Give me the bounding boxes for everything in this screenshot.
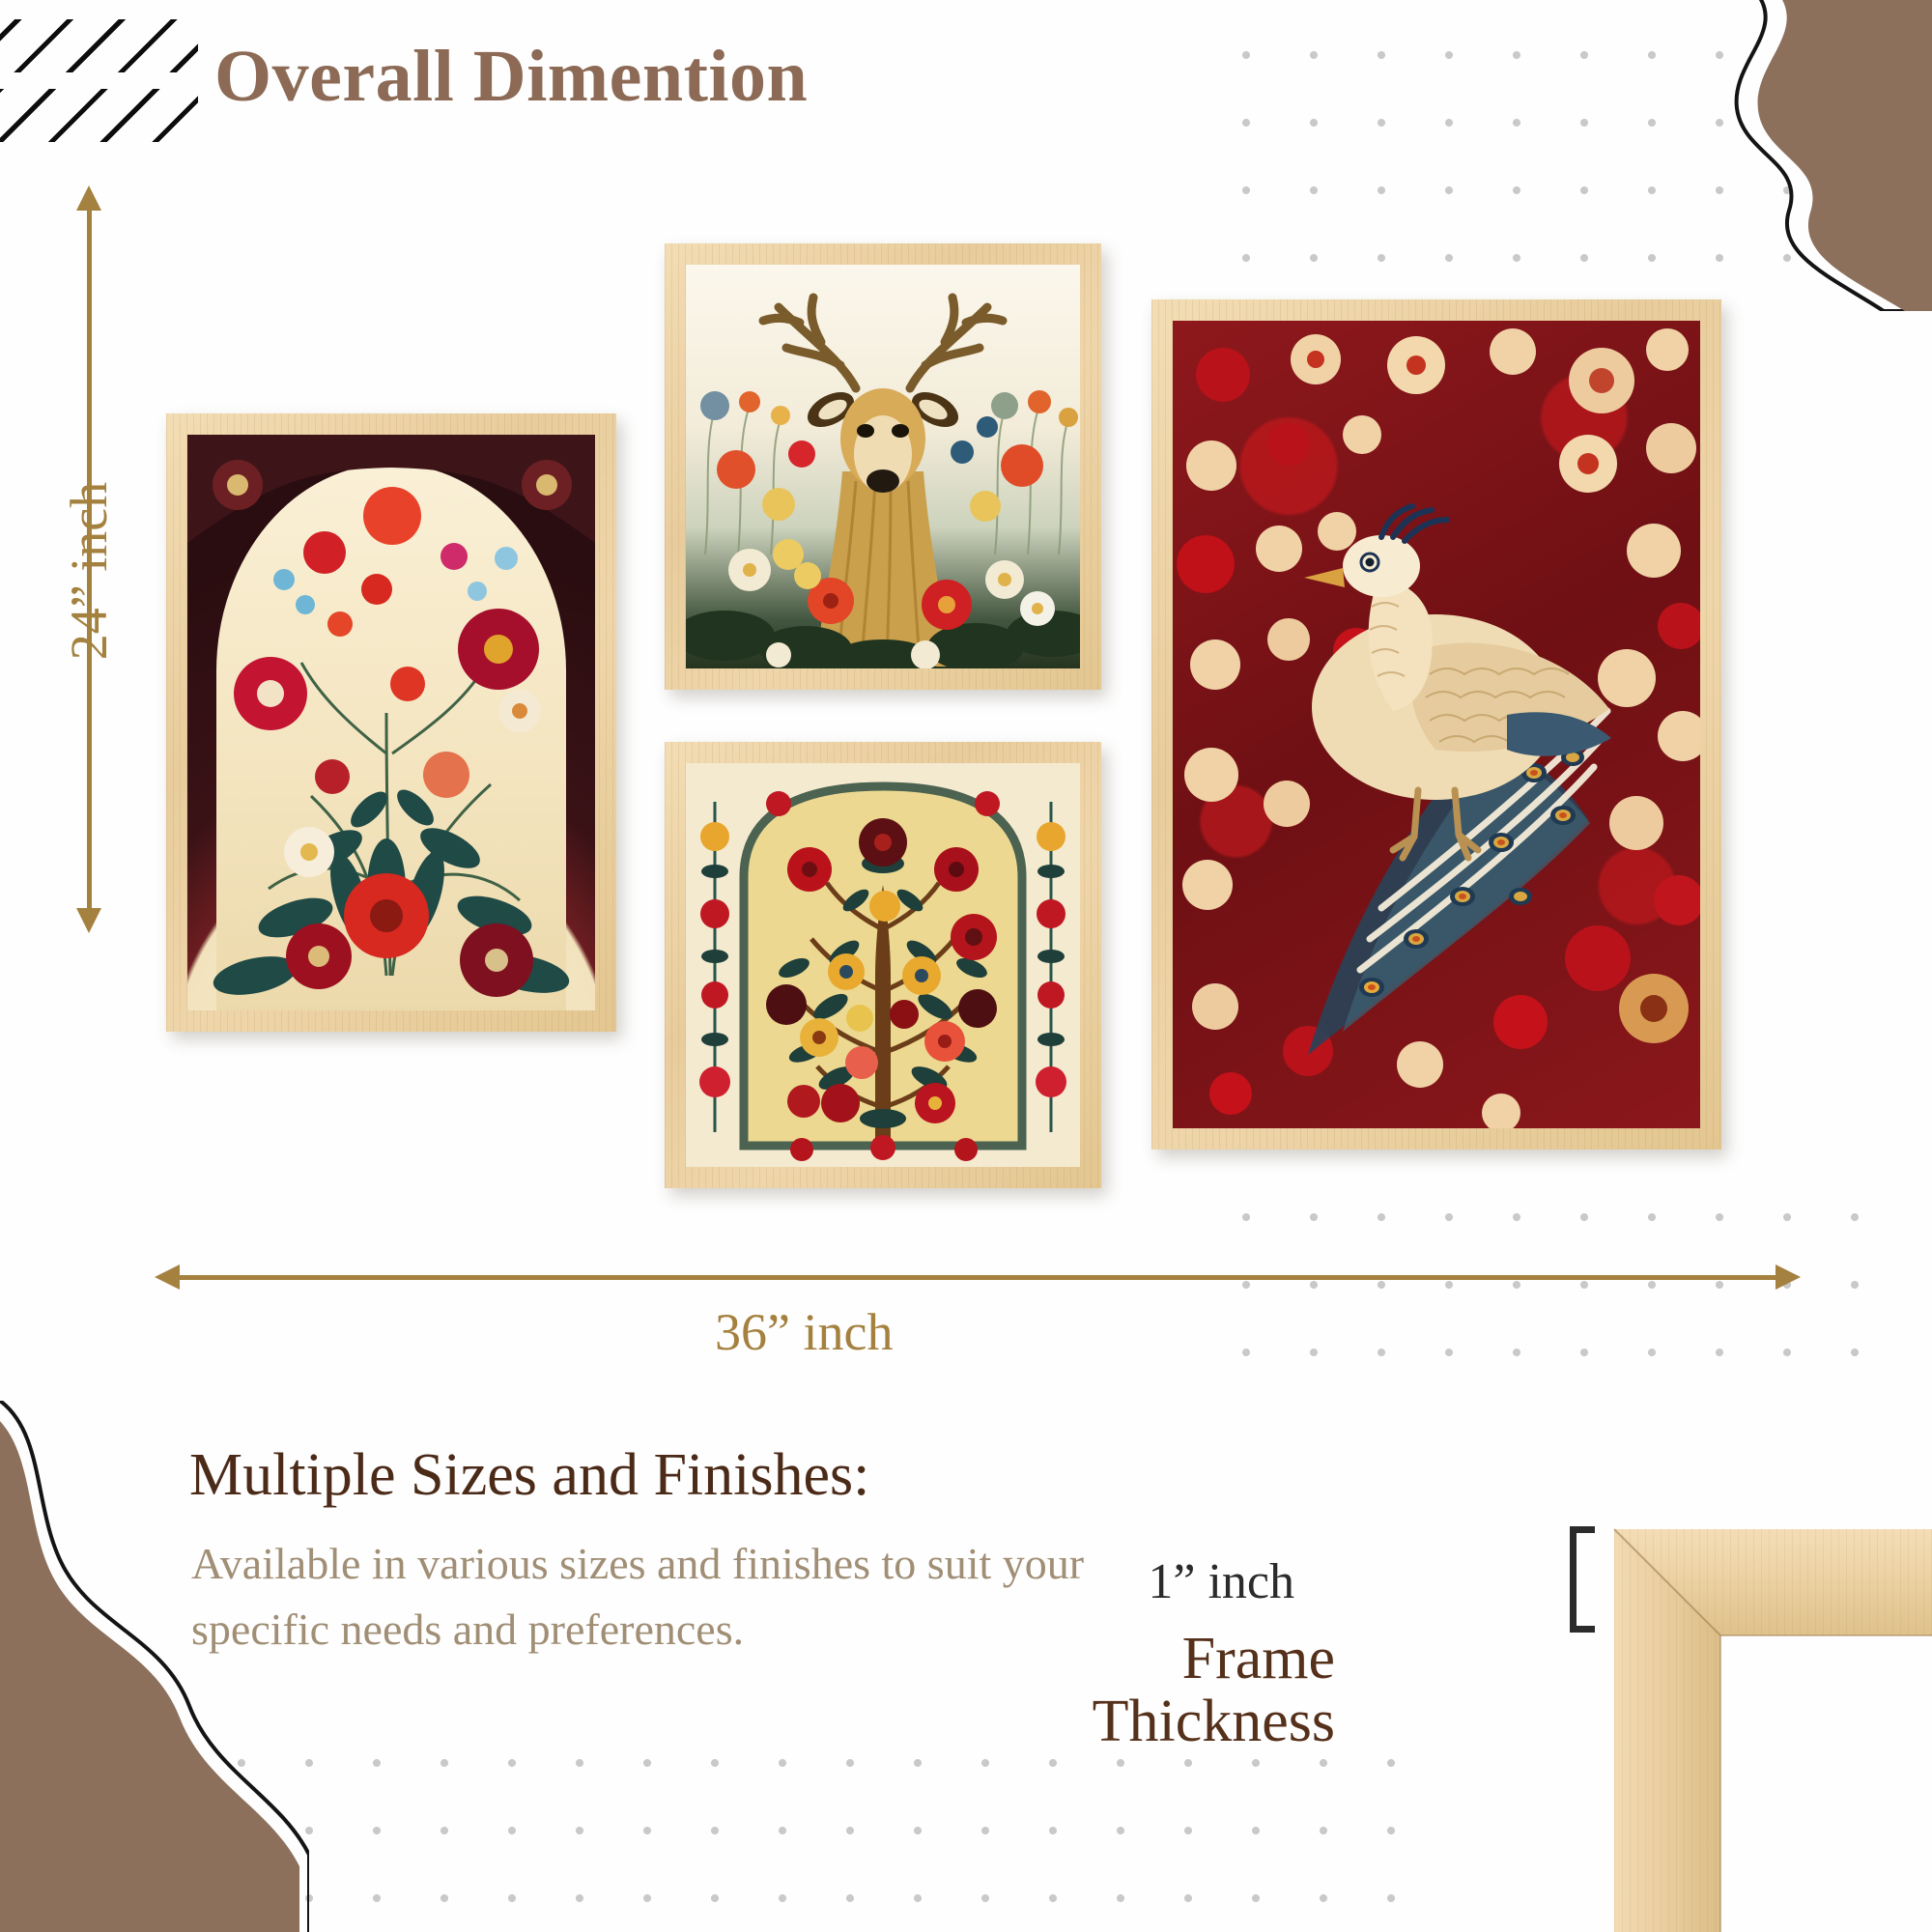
- page-title: Overall Dimention: [214, 37, 808, 118]
- framed-art-deer[interactable]: [665, 243, 1101, 690]
- dot-grid-icon: [1212, 1183, 1908, 1396]
- features-heading: Multiple Sizes and Finishes:: [189, 1441, 869, 1510]
- arrow-right-icon: [1776, 1264, 1801, 1290]
- floral-arch-artwork: [187, 435, 595, 1010]
- arrow-down-icon: [76, 908, 101, 933]
- frame-thickness-caption: Frame Thickness: [1093, 1628, 1335, 1753]
- peacock-artwork: [1173, 321, 1700, 1128]
- height-dimension-label: 24” inch: [59, 455, 119, 687]
- wave-blob-icon: [1642, 0, 1932, 311]
- dot-grid-icon: [1212, 21, 1889, 301]
- double-arrow-horizontal-icon: [162, 1275, 1783, 1280]
- framed-art-tree-of-life[interactable]: [665, 742, 1101, 1188]
- arrow-left-icon: [155, 1264, 180, 1290]
- deer-artwork: [686, 265, 1080, 668]
- frame-thickness-value: 1” inch: [1148, 1553, 1294, 1610]
- infographic-canvas: Overall Dimention 24” inch 36” inch: [0, 0, 1932, 1932]
- dot-grid-icon: [208, 1729, 1415, 1932]
- framed-art-peacock[interactable]: [1151, 299, 1721, 1150]
- tree-of-life-artwork: [686, 763, 1080, 1167]
- framed-art-floral-arch[interactable]: [166, 413, 616, 1032]
- diagonal-stripes-icon: [0, 19, 198, 155]
- frame-corner-sample-icon: [1606, 1521, 1932, 1932]
- width-dimension-label: 36” inch: [715, 1302, 893, 1362]
- features-body-text: Available in various sizes and finishes …: [191, 1531, 1215, 1662]
- measurement-bracket-icon: [1570, 1526, 1595, 1633]
- arrow-up-icon: [76, 185, 101, 211]
